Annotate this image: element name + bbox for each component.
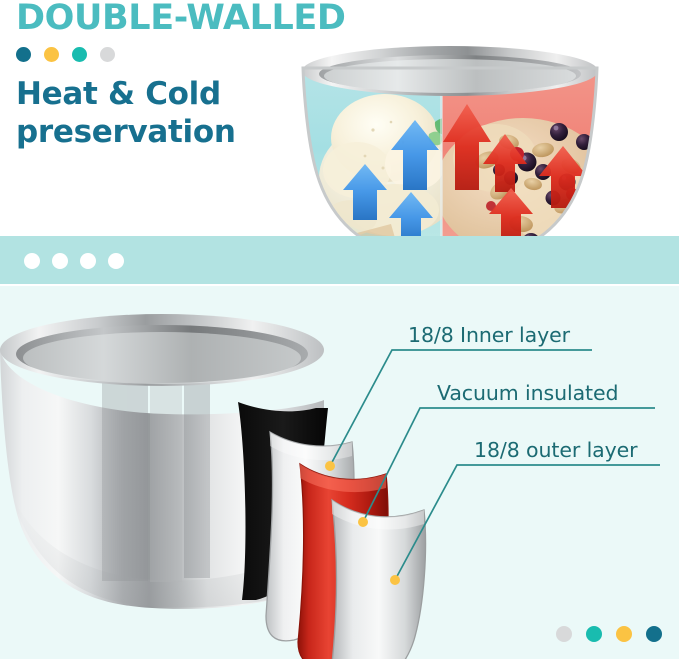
dot-dark-teal-icon [646, 626, 662, 642]
callout-group: 18/8 Inner layer Vacuum insulated 18/8 o… [0, 286, 679, 659]
split-food-bowl-svg [295, 38, 605, 236]
callout-leader-lines-svg [0, 286, 679, 659]
callout-label-outer: 18/8 outer layer [474, 438, 638, 462]
subtitle-line-2: preservation [16, 114, 296, 152]
leader-dot-inner-icon [325, 461, 335, 471]
band-dot-3-icon [80, 253, 96, 269]
dot-gray-icon [100, 47, 115, 62]
subtitle-line-1: Heat & Cold [16, 76, 221, 112]
band-dot-row [24, 253, 124, 269]
bottom-panel: 18/8 Inner layer Vacuum insulated 18/8 o… [0, 286, 679, 659]
band-dot-1-icon [24, 253, 40, 269]
band-dot-2-icon [52, 253, 68, 269]
callout-label-vacuum: Vacuum insulated [437, 381, 618, 405]
bottom-dot-row [556, 626, 662, 642]
page-title: DOUBLE-WALLED [16, 0, 346, 38]
dot-bright-teal-icon [72, 47, 87, 62]
dot-gray-icon [556, 626, 572, 642]
page-subtitle: Heat & Cold preservation [16, 76, 296, 152]
callout-label-inner: 18/8 Inner layer [408, 323, 570, 347]
top-panel: DOUBLE-WALLED Heat & Cold preservation [0, 0, 679, 236]
dot-dark-teal-icon [16, 47, 31, 62]
top-dot-row [16, 47, 115, 62]
band-dot-4-icon [108, 253, 124, 269]
infographic-root: DOUBLE-WALLED Heat & Cold preservation [0, 0, 679, 659]
split-food-bowl-image [295, 38, 605, 236]
dot-yellow-icon [44, 47, 59, 62]
leader-dot-outer-icon [390, 575, 400, 585]
leader-line-outer [395, 465, 660, 580]
dot-bright-teal-icon [586, 626, 602, 642]
leader-dot-vacuum-icon [358, 517, 368, 527]
bowl-rim [302, 46, 598, 96]
dot-yellow-icon [616, 626, 632, 642]
